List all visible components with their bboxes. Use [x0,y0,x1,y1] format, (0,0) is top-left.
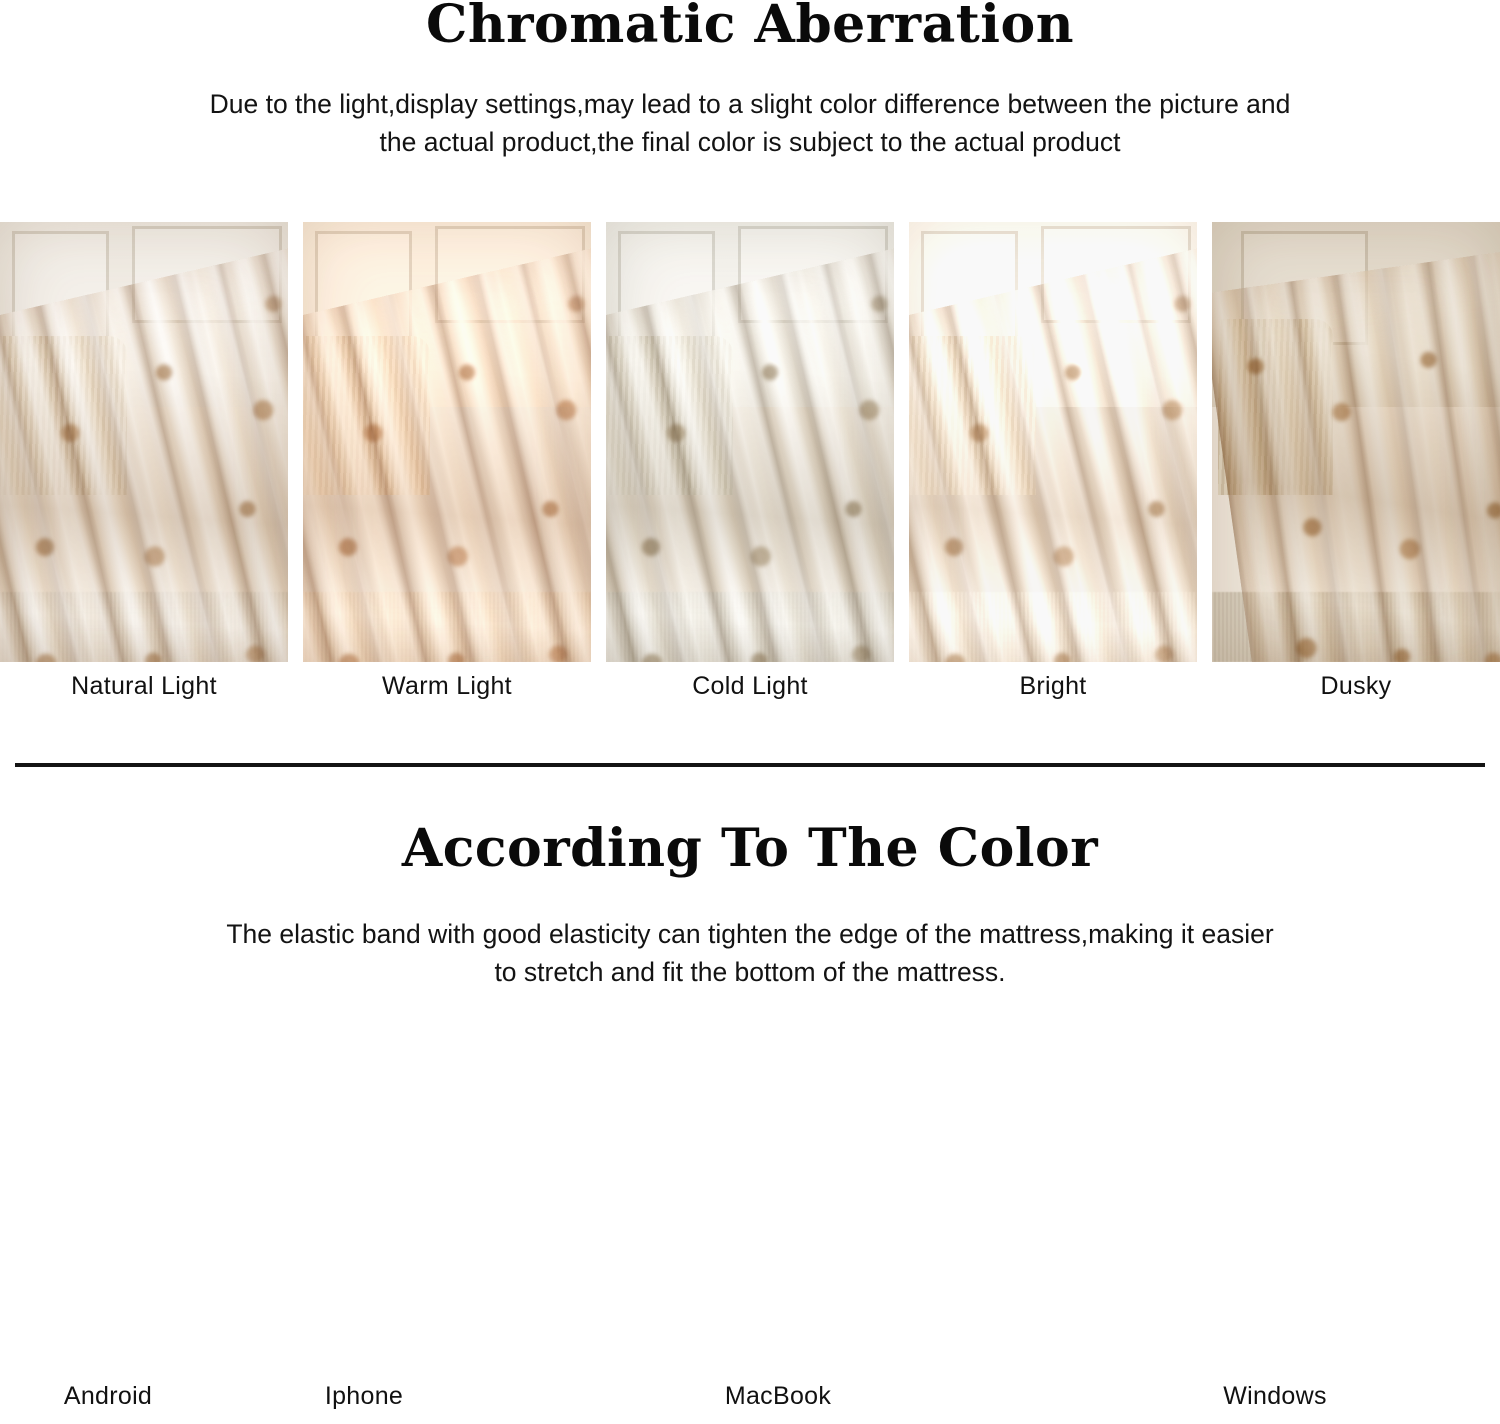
lighting-sample-cold-light[interactable] [606,222,894,662]
device-label-android: Android [18,1382,198,1411]
chromatic-aberration-title: Chromatic Aberration [0,0,1500,53]
photo-vignette [303,222,591,662]
device-label-row: Android Iphone MacBook Windows [0,1382,1500,1424]
device-label-iphone: Iphone [276,1382,452,1411]
lighting-label-dusky: Dusky [1212,672,1500,712]
blanket-photo [909,222,1197,662]
blanket-photo [1212,222,1500,662]
blanket-photo [303,222,591,662]
lighting-label-row: Natural Light Warm Light Cold Light Brig… [0,672,1500,712]
device-label-windows: Windows [1185,1382,1365,1411]
color-subtitle-line-1: The elastic band with good elasticity ca… [60,915,1440,953]
according-to-the-color-title: According To The Color [0,822,1500,877]
photo-vignette [0,222,288,662]
lighting-label-natural-light: Natural Light [0,672,288,712]
device-mockup-row [0,1055,1500,1365]
photo-vignette [909,222,1197,662]
lighting-label-warm-light: Warm Light [303,672,591,712]
lighting-sample-natural-light[interactable] [0,222,288,662]
lighting-label-cold-light: Cold Light [606,672,894,712]
according-to-the-color-subtitle: The elastic band with good elasticity ca… [60,915,1440,992]
blanket-photo [0,222,288,662]
device-label-macbook: MacBook [688,1382,868,1411]
product-detail-page: Chromatic Aberration Due to the light,di… [0,0,1500,1424]
blanket-photo [606,222,894,662]
chromatic-subtitle-line-1: Due to the light,display settings,may le… [50,85,1450,123]
lighting-sample-warm-light[interactable] [303,222,591,662]
color-subtitle-line-2: to stretch and fit the bottom of the mat… [60,953,1440,991]
chromatic-aberration-subtitle: Due to the light,display settings,may le… [50,85,1450,162]
lighting-label-bright: Bright [909,672,1197,712]
lighting-sample-row [0,222,1500,662]
photo-vignette [606,222,894,662]
photo-vignette [1212,222,1500,662]
chromatic-subtitle-line-2: the actual product,the final color is su… [50,123,1450,161]
lighting-sample-bright[interactable] [909,222,1197,662]
section-divider [15,763,1485,767]
lighting-sample-dusky[interactable] [1212,222,1500,662]
